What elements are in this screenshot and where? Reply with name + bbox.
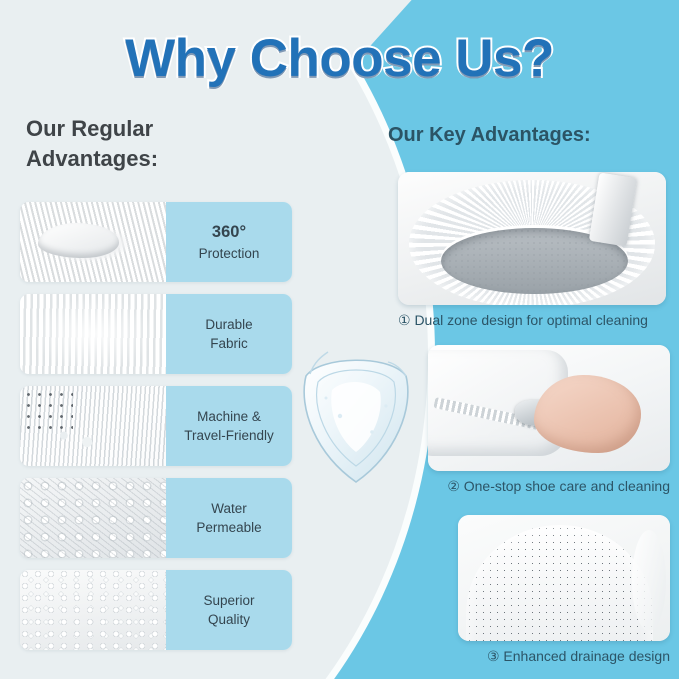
feature-label: Machine & Travel-Friendly: [166, 386, 292, 466]
shoe-in-mitt-photo: [20, 202, 166, 282]
feature-label-line-2: Fabric: [210, 334, 248, 353]
feature-card-360-protection: 360° Protection: [20, 202, 292, 282]
feature-label: Water Permeable: [166, 478, 292, 558]
feature-label-line-2: Protection: [199, 244, 260, 263]
key-advantage-caption: ③ Enhanced drainage design: [458, 648, 670, 665]
mesh-drainage-photo: [458, 515, 670, 641]
dual-zone-interior-photo: [398, 172, 666, 305]
feature-label: 360° Protection: [166, 202, 292, 282]
left-section-heading: Our Regular Advantages:: [26, 114, 276, 175]
water-permeable-mesh-photo: [20, 478, 166, 558]
left-heading-line-2: Advantages:: [26, 144, 276, 174]
feature-card-water-permeable: Water Permeable: [20, 478, 292, 558]
washing-machine-photo: [20, 386, 166, 466]
chenille-texture-photo: [20, 570, 166, 650]
feature-card-machine-travel-friendly: Machine & Travel-Friendly: [20, 386, 292, 466]
key-advantage-2: ② One-stop shoe care and cleaning: [428, 345, 670, 495]
hand-zipper-pull-photo: [428, 345, 670, 471]
feature-label-line-2: Quality: [208, 610, 250, 629]
feature-card-superior-quality: Superior Quality: [20, 570, 292, 650]
feature-label-line-1: Machine &: [197, 407, 261, 426]
feature-label-line-1: Durable: [205, 315, 252, 334]
ribbed-fabric-photo: [20, 294, 166, 374]
page-title: Why Choose Us?: [0, 28, 679, 89]
regular-advantages-list: 360° Protection Durable Fabric Machine &…: [20, 202, 292, 662]
key-advantage-3: ③ Enhanced drainage design: [458, 515, 670, 665]
feature-label: Superior Quality: [166, 570, 292, 650]
feature-label: Durable Fabric: [166, 294, 292, 374]
feature-label-line-1: Water: [211, 499, 247, 518]
water-splash-shield-graphic: [292, 346, 420, 486]
right-section-heading: Our Key Advantages:: [388, 124, 668, 147]
infographic-poster: Why Choose Us? Our Regular Advantages: O…: [0, 0, 679, 679]
feature-label-line-2: Travel-Friendly: [184, 426, 274, 445]
feature-label-line-1: Superior: [203, 591, 254, 610]
feature-card-durable-fabric: Durable Fabric: [20, 294, 292, 374]
key-advantage-caption: ② One-stop shoe care and cleaning: [428, 478, 670, 495]
key-advantage-caption: ① Dual zone design for optimal cleaning: [398, 312, 666, 329]
left-heading-line-1: Our Regular: [26, 114, 276, 144]
feature-label-line-2: Permeable: [196, 518, 261, 537]
key-advantage-1: ① Dual zone design for optimal cleaning: [398, 172, 666, 329]
feature-label-line-1: 360°: [212, 221, 246, 244]
